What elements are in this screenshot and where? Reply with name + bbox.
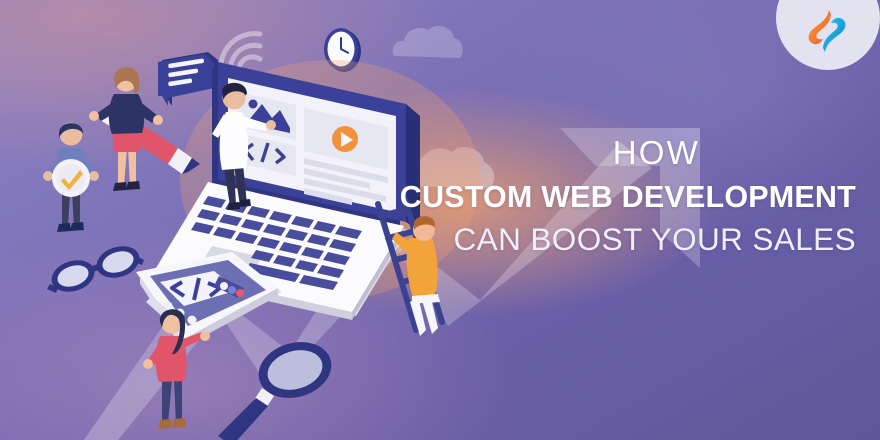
eyeglasses-icon [47, 241, 144, 297]
headline-line-2: CUSTOM WEB DEVELOPMENT [400, 182, 856, 213]
headline-line-3: CAN BOOST YOUR SALES [400, 224, 856, 256]
headline-block: HOW CUSTOM WEB DEVELOPMENT CAN BOOST YOU… [400, 136, 856, 255]
check-badge-icon [52, 159, 90, 197]
headline-line-1: HOW [400, 136, 856, 169]
logo-swoosh-icon [805, 8, 849, 54]
blog-banner: HOW CUSTOM WEB DEVELOPMENT CAN BOOST YOU… [0, 0, 880, 440]
magnifying-glass-icon [218, 334, 338, 440]
person-woman-with-pencil [89, 67, 163, 191]
